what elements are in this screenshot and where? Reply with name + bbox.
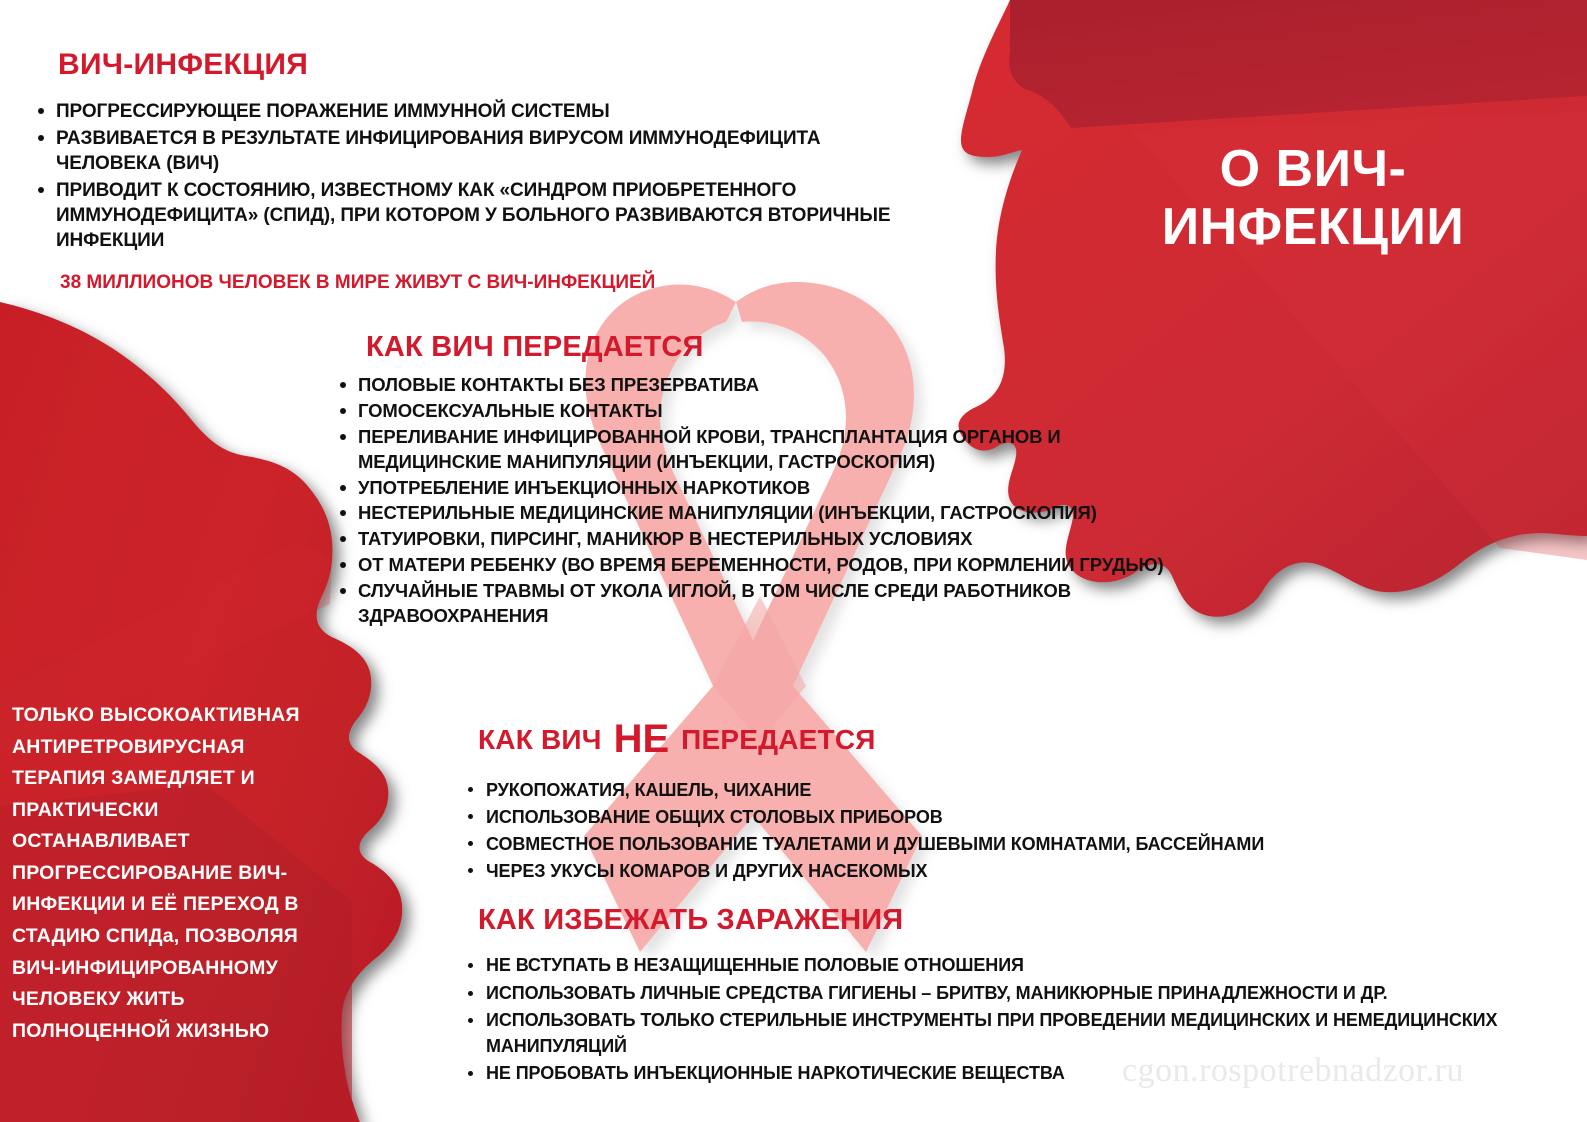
section-title-prevention: КАК ИЗБЕЖАТЬ ЗАРАЖЕНИЯ	[478, 905, 903, 937]
transmission-bullet-list: ПОЛОВЫЕ КОНТАКТЫ БЕЗ ПРЕЗЕРВАТИВА ГОМОСЕ…	[336, 373, 1176, 630]
list-item: ПОЛОВЫЕ КОНТАКТЫ БЕЗ ПРЕЗЕРВАТИВА	[336, 373, 1176, 398]
list-item: ИСПОЛЬЗОВАТЬ ЛИЧНЫЕ СРЕДСТВА ГИГИЕНЫ – Б…	[462, 981, 1522, 1007]
list-item: ПЕРЕЛИВАНИЕ ИНФИЦИРОВАННОЙ КРОВИ, ТРАНСП…	[336, 425, 1176, 475]
list-item: СОВМЕСТНОЕ ПОЛЬЗОВАНИЕ ТУАЛЕТАМИ И ДУШЕВ…	[462, 831, 1472, 857]
intro-bullet-list: ПРОГРЕССИРУЮЩЕЕ ПОРАЖЕНИЕ ИММУННОЙ СИСТЕ…	[34, 99, 914, 255]
section-title-not-transmission: КАК ВИЧ НЕ ПЕРЕДАЕТСЯ	[478, 723, 876, 756]
poster-canvas: О ВИЧ-ИНФЕКЦИИ ВИЧ-ИНФЕКЦИЯ ПРОГРЕССИРУЮ…	[0, 0, 1587, 1122]
list-item: УПОТРЕБЛЕНИЕ ИНЪЕКЦИОННЫХ НАРКОТИКОВ	[336, 476, 1176, 501]
not-transmission-bullet-list: РУКОПОЖАТИЯ, КАШЕЛЬ, ЧИХАНИЕ ИСПОЛЬЗОВАН…	[462, 777, 1472, 885]
list-item: ПРОГРЕССИРУЮЩЕЕ ПОРАЖЕНИЕ ИММУННОЙ СИСТЕ…	[34, 99, 914, 124]
not-transmission-emphasis: НЕ	[610, 717, 674, 761]
section-title-transmission: КАК ВИЧ ПЕРЕДАЕТСЯ	[366, 332, 704, 364]
statistic-highlight: 38 МИЛЛИОНОВ ЧЕЛОВЕК В МИРЕ ЖИВУТ С ВИЧ-…	[60, 272, 655, 294]
list-item: ГОМОСЕКСУАЛЬНЫЕ КОНТАКТЫ	[336, 399, 1176, 424]
list-item: РАЗВИВАЕТСЯ В РЕЗУЛЬТАТЕ ИНФИЦИРОВАНИЯ В…	[34, 126, 914, 176]
list-item: РУКОПОЖАТИЯ, КАШЕЛЬ, ЧИХАНИЕ	[462, 777, 1472, 803]
list-item: ТАТУИРОВКИ, ПИРСИНГ, МАНИКЮР В НЕСТЕРИЛЬ…	[336, 527, 1176, 552]
therapy-note-text: ТОЛЬКО ВЫСОКОАКТИВНАЯ АНТИРЕТРОВИРУСНАЯ …	[12, 700, 302, 1047]
not-transmission-title-after: ПЕРЕДАЕТСЯ	[681, 724, 875, 755]
list-item: СЛУЧАЙНЫЕ ТРАВМЫ ОТ УКОЛА ИГЛОЙ, В ТОМ Ч…	[336, 579, 1176, 629]
top-dark-band	[1009, 0, 1587, 128]
list-item: ИСПОЛЬЗОВАНИЕ ОБЩИХ СТОЛОВЫХ ПРИБОРОВ	[462, 804, 1472, 830]
list-item: НЕСТЕРИЛЬНЫЕ МЕДИЦИНСКИЕ МАНИПУЛЯЦИИ (ИН…	[336, 501, 1176, 526]
list-item: ПРИВОДИТ К СОСТОЯНИЮ, ИЗВЕСТНОМУ КАК «СИ…	[34, 178, 914, 253]
not-transmission-title-before: КАК ВИЧ	[478, 724, 602, 755]
list-item: ЧЕРЕЗ УКУСЫ КОМАРОВ И ДРУГИХ НАСЕКОМЫХ	[462, 858, 1472, 884]
section-title-hiv-infection: ВИЧ-ИНФЕКЦИЯ	[58, 48, 308, 82]
list-item: ОТ МАТЕРИ РЕБЕНКУ (ВО ВРЕМЯ БЕРЕМЕННОСТИ…	[336, 553, 1176, 578]
page-title: О ВИЧ-ИНФЕКЦИИ	[1078, 140, 1548, 256]
list-item: НЕ ВСТУПАТЬ В НЕЗАЩИЩЕННЫЕ ПОЛОВЫЕ ОТНОШ…	[462, 953, 1522, 979]
watermark: cgon.rospotrebnadzor.ru	[1122, 1052, 1464, 1090]
